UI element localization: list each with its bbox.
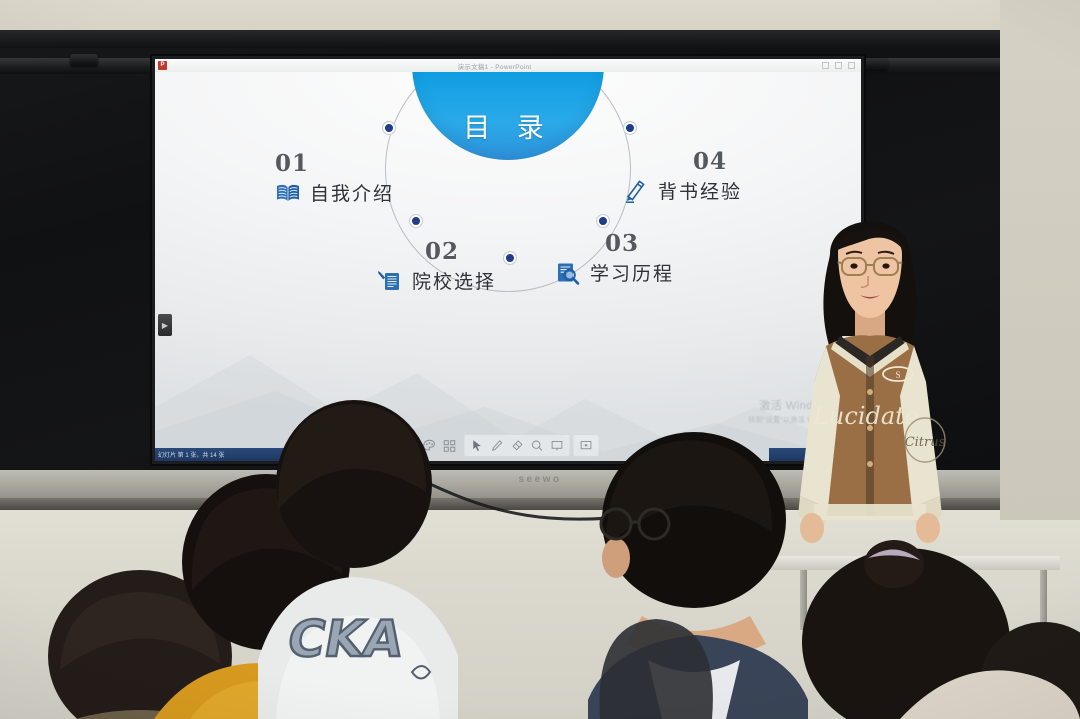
- classroom-scene: seewo P 演示文稿1 - PowerPoint: [0, 0, 1080, 719]
- toc-label: 自我介绍: [310, 179, 394, 206]
- toc-label: 院校选择: [412, 267, 496, 294]
- svg-text:S: S: [895, 370, 900, 380]
- arc-dot: [597, 215, 609, 227]
- minimize-icon[interactable]: [822, 62, 829, 69]
- toc-number: 03: [605, 232, 674, 255]
- board-clip: [70, 54, 98, 66]
- open-book-icon: [275, 180, 301, 206]
- toc-number: 02: [425, 240, 496, 263]
- toc-number: 04: [693, 150, 742, 173]
- sidebar-expand-button[interactable]: ▶: [158, 314, 172, 336]
- arc-dot: [504, 252, 516, 264]
- chair-back: [596, 586, 716, 719]
- svg-text:Citrus: Citrus: [905, 435, 946, 450]
- toc-item-01[interactable]: 01 自我介绍: [275, 152, 394, 206]
- toc-item-03[interactable]: 03 学习历程: [555, 232, 674, 286]
- toolbar-group-tools[interactable]: [464, 434, 571, 457]
- audience-shoulder-right: [900, 640, 1080, 719]
- toc-item-02[interactable]: 02 院校选择: [377, 240, 496, 294]
- close-icon[interactable]: [848, 62, 855, 69]
- pen-document-icon: [377, 268, 403, 294]
- svg-text:Lucidate: Lucidate: [812, 402, 919, 430]
- powerpoint-titlebar[interactable]: P 演示文稿1 - PowerPoint: [155, 59, 861, 73]
- arc-dot: [410, 215, 422, 227]
- arc-dot: [624, 122, 636, 134]
- svg-text:CKA: CKA: [284, 609, 408, 668]
- shirt-graphic-cka: CKA: [284, 596, 454, 696]
- maximize-icon[interactable]: [835, 62, 842, 69]
- screen-icon[interactable]: [549, 437, 566, 454]
- window-title: 演示文稿1 - PowerPoint: [167, 61, 822, 71]
- window-buttons[interactable]: [822, 62, 855, 69]
- magnifier-icon[interactable]: [529, 437, 546, 454]
- eyeglasses-icon: [596, 500, 676, 546]
- cursor-arrow-icon[interactable]: [469, 437, 486, 454]
- document-search-icon: [555, 260, 581, 286]
- pen-icon[interactable]: [489, 437, 506, 454]
- toc-number: 01: [275, 152, 394, 175]
- board-clip: [860, 58, 888, 70]
- powerpoint-app-icon: P: [158, 61, 167, 70]
- eraser-icon[interactable]: [509, 437, 526, 454]
- toc-label: 学习历程: [590, 259, 674, 286]
- arc-dot: [383, 122, 395, 134]
- wall-right-of-board: [1000, 0, 1080, 520]
- pencil-icon: [623, 178, 649, 204]
- slide-counter: 幻灯片 第 1 张，共 14 张: [158, 450, 224, 459]
- toc-item-04[interactable]: 04 背书经验: [623, 150, 742, 204]
- toc-label: 背书经验: [658, 177, 742, 204]
- slide-title: 目 录: [463, 106, 553, 145]
